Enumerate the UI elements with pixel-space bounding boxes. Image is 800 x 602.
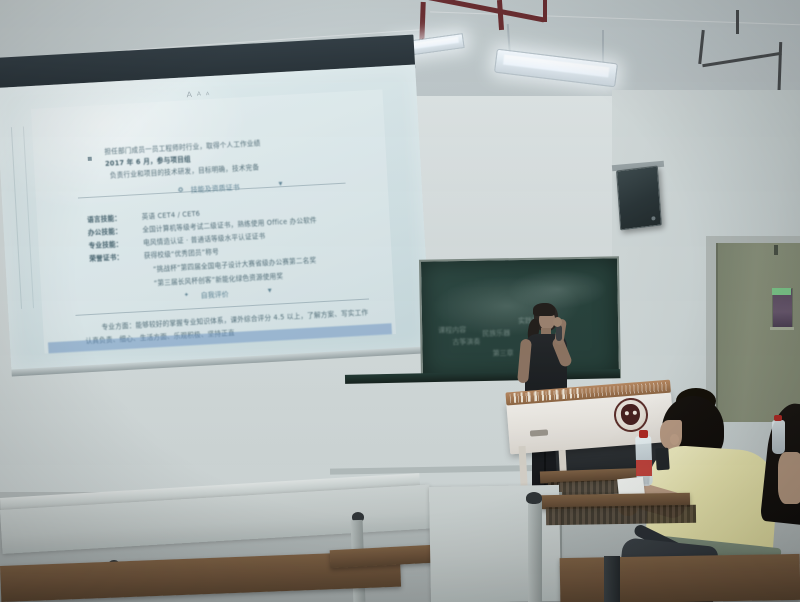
section-heading-self-evaluation: 自我评价 xyxy=(200,289,229,301)
desk-book-rack xyxy=(546,505,696,526)
chalk-note: 古筝演奏 xyxy=(452,337,480,347)
presenter-hand xyxy=(553,317,562,327)
chalk-note: 课程内容 xyxy=(438,325,466,335)
chevron-down-icon[interactable]: ▼ xyxy=(279,182,283,188)
microphone xyxy=(556,325,562,341)
bottle-cap xyxy=(639,430,648,438)
projected-document: A A A 担任部门成员一员工程师时行业，取得个人工作业绩 2017 年 6 月… xyxy=(0,65,431,373)
skill-row-label: 荣誉证书： xyxy=(89,251,123,263)
bottle-label xyxy=(636,460,652,476)
door-gap xyxy=(774,245,778,255)
chalk-note: 民族乐器 xyxy=(482,328,510,338)
chevron-down-icon[interactable]: ▼ xyxy=(268,288,272,294)
light-rod xyxy=(602,30,604,62)
skill-row-label: 语言技能： xyxy=(87,212,121,224)
desk-leg xyxy=(528,500,542,602)
guzheng-handle xyxy=(530,429,548,436)
font-size-small-icon[interactable]: A xyxy=(206,92,210,97)
font-size-medium-icon[interactable]: A xyxy=(197,92,201,98)
skill-row-label: 专业技能： xyxy=(88,238,122,250)
bullet-marker xyxy=(88,157,92,161)
classroom-photo: A A A 担任部门成员一员工程师时行业，取得个人工作业绩 2017 年 6 月… xyxy=(0,0,800,602)
bottle-cap xyxy=(774,415,782,421)
chair-leg xyxy=(604,556,620,602)
projection-screen[interactable]: A A A 担任部门成员一员工程师时行业，取得个人工作业绩 2017 年 6 月… xyxy=(0,35,431,378)
chalk-note: 第三章 xyxy=(493,348,514,358)
door-window-sill xyxy=(770,327,794,330)
smartphone[interactable] xyxy=(655,448,670,471)
skill-row-label: 办公技能： xyxy=(88,225,122,237)
presenter-hair-front xyxy=(533,303,555,316)
water-bottle xyxy=(772,420,785,454)
font-size-large-icon[interactable]: A xyxy=(186,91,192,99)
document-margin-rule xyxy=(10,127,21,309)
student-ear xyxy=(670,434,679,445)
certificate-icon: ✪ xyxy=(178,187,183,194)
ceiling-pipe xyxy=(736,10,739,34)
desk-top xyxy=(560,554,800,602)
student-background-arm xyxy=(778,452,800,504)
desk-bolt xyxy=(526,492,542,504)
evaluation-icon: ✦ xyxy=(184,292,189,299)
door-window-light xyxy=(772,288,791,295)
ceiling-beam xyxy=(543,0,547,22)
wall-speaker xyxy=(616,166,662,231)
